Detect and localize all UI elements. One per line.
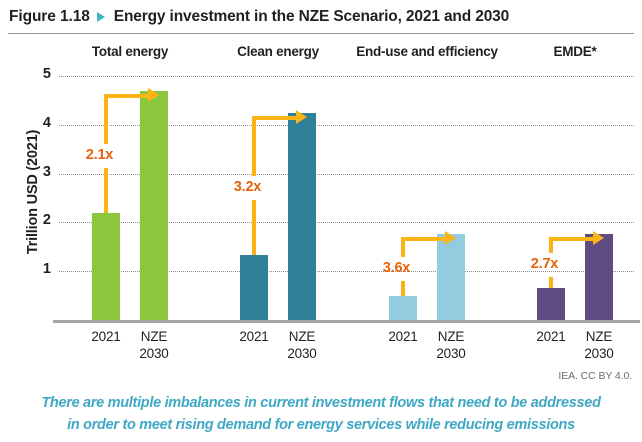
page-title: Energy investment in the NZE Scenario, 2… <box>114 8 509 26</box>
bar-2-1 <box>437 234 465 320</box>
x-axis-label-2-1: NZE2030 <box>401 328 501 362</box>
growth-multiplier-label-3: 2.7x <box>531 256 558 272</box>
figure-title-bar: Figure 1.18 Energy investment in the NZE… <box>0 0 642 34</box>
x-label-line-2: 2030 <box>139 346 168 361</box>
caption-line-1: There are multiple imbalances in current… <box>0 392 642 414</box>
x-axis-label-0-1: NZE2030 <box>104 328 204 362</box>
x-axis-line <box>53 320 640 323</box>
x-label-line-2: 2030 <box>436 346 465 361</box>
plot-region: 12345 2.1x3.2x3.6x2.7x 2021NZE20302021NZ… <box>59 34 634 326</box>
x-label-line-1: NZE <box>289 329 315 344</box>
bar-3-1 <box>585 234 613 320</box>
y-tick-label-4: 4 <box>33 115 51 131</box>
arrow-head-3 <box>593 231 604 245</box>
x-label-line-2: 2030 <box>584 346 613 361</box>
growth-multiplier-label-2: 3.6x <box>383 260 410 276</box>
growth-multiplier-label-0: 2.1x <box>86 147 113 163</box>
bar-0-0 <box>92 213 120 320</box>
x-axis-label-3-1: NZE2030 <box>549 328 642 362</box>
bar-1-0 <box>240 255 268 320</box>
y-tick-label-1: 1 <box>33 261 51 277</box>
arrow-horizontal-1 <box>252 116 296 121</box>
growth-multiplier-label-1: 3.2x <box>234 179 261 195</box>
arrow-stem-lower-3 <box>549 277 554 288</box>
arrow-head-2 <box>445 231 456 245</box>
arrow-horizontal-0 <box>104 94 148 99</box>
gridline-5 <box>59 76 634 77</box>
arrow-stem-lower-0 <box>104 168 109 213</box>
arrow-horizontal-3 <box>549 237 593 242</box>
bar-2-0 <box>389 296 417 320</box>
iea-credit: IEA. CC BY 4.0. <box>558 370 632 382</box>
y-tick-label-2: 2 <box>33 212 51 228</box>
arrow-horizontal-2 <box>401 237 445 242</box>
y-tick-label-5: 5 <box>33 66 51 82</box>
arrow-stem-upper-0 <box>104 94 109 145</box>
arrow-stem-lower-1 <box>252 200 257 255</box>
chart-area: Trillion USD (2021) Total energyClean en… <box>0 34 642 368</box>
x-label-line-2: 2030 <box>287 346 316 361</box>
arrow-stem-upper-1 <box>252 116 257 177</box>
caption-line-2: in order to meet rising demand for energ… <box>0 414 642 436</box>
x-label-line-1: NZE <box>141 329 167 344</box>
y-tick-label-3: 3 <box>33 164 51 180</box>
bar-0-1 <box>140 91 168 320</box>
arrow-head-1 <box>296 110 307 124</box>
arrow-stem-lower-2 <box>401 281 406 296</box>
bar-3-0 <box>537 288 565 320</box>
figure-number: Figure 1.18 <box>9 8 90 26</box>
x-label-line-1: NZE <box>438 329 464 344</box>
x-axis-label-1-1: NZE2030 <box>252 328 352 362</box>
bar-1-1 <box>288 113 316 320</box>
figure-caption: There are multiple imbalances in current… <box>0 392 642 436</box>
play-triangle-icon <box>97 12 105 22</box>
arrow-head-0 <box>148 88 159 102</box>
x-label-line-1: NZE <box>586 329 612 344</box>
